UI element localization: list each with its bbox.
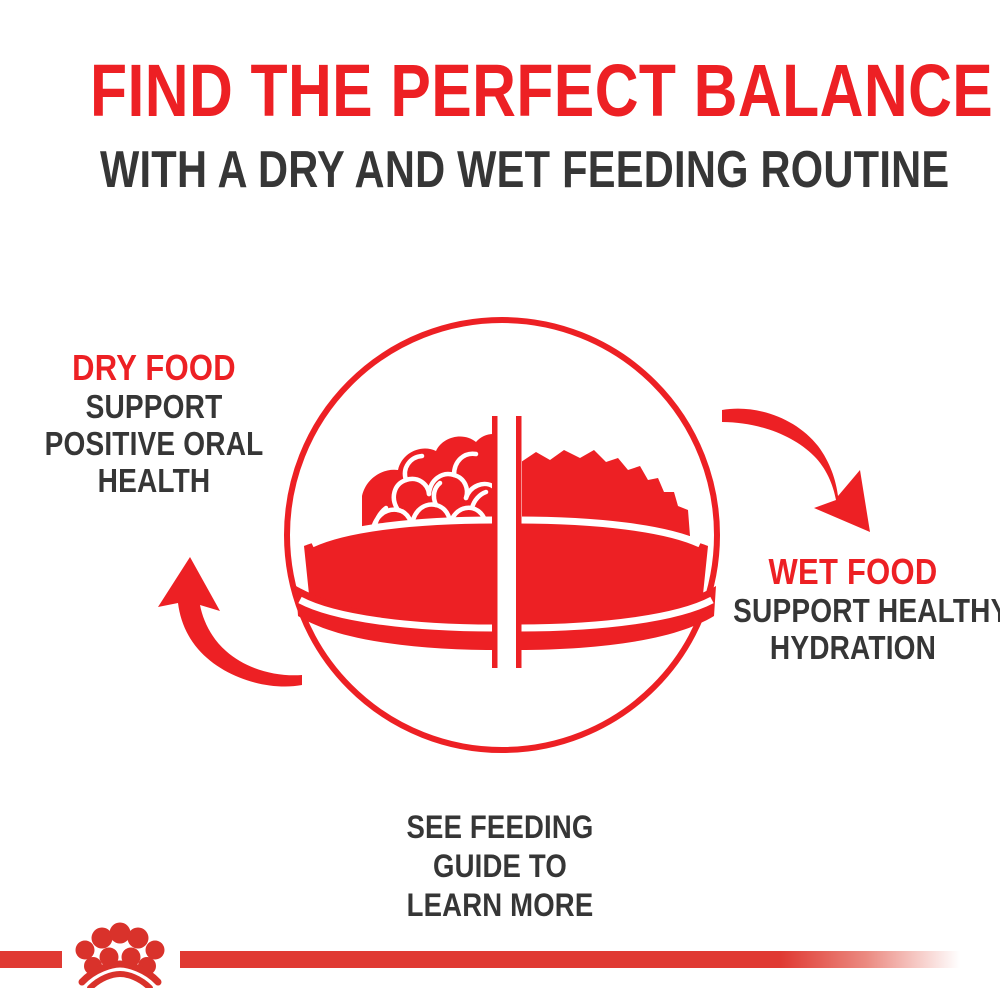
bowl-in-circle-icon bbox=[250, 300, 770, 770]
arrow-left-container bbox=[120, 545, 310, 705]
dry-food-text-block: DRY FOOD SUPPORT POSITIVE ORAL HEALTH bbox=[20, 348, 288, 499]
bowl-right-wet-half bbox=[518, 450, 716, 650]
dry-food-line-2: POSITIVE ORAL bbox=[40, 425, 268, 462]
curved-arrow-up-left-icon bbox=[120, 545, 310, 705]
page-title: FIND THE PERFECT BALANCE bbox=[90, 52, 910, 130]
divider-gap bbox=[498, 416, 517, 668]
dry-food-line-1: SUPPORT bbox=[40, 388, 268, 425]
arrow-right-shape bbox=[722, 409, 870, 532]
arrow-right-container bbox=[720, 392, 900, 547]
brand-logo bbox=[60, 916, 180, 988]
crown-paw-logo-icon bbox=[60, 916, 180, 988]
footer-rule-right bbox=[180, 951, 960, 968]
header-text-block: FIND THE PERFECT BALANCE WITH A DRY AND … bbox=[0, 52, 1000, 198]
caption-line-1: SEE FEEDING bbox=[70, 808, 930, 847]
dry-food-title: DRY FOOD bbox=[39, 348, 269, 388]
bowl-left-dry-half bbox=[296, 434, 516, 650]
page-subtitle: WITH A DRY AND WET FEEDING ROUTINE bbox=[100, 142, 900, 198]
caption-line-2: GUIDE TO bbox=[70, 847, 930, 886]
divider-line-right-top bbox=[516, 416, 522, 668]
central-illustration bbox=[250, 300, 770, 770]
footer-band bbox=[0, 900, 1000, 1000]
split-pet-food-bowl-icon bbox=[296, 416, 716, 668]
arrow-left-shape bbox=[158, 557, 302, 687]
crown-arc-inner bbox=[90, 974, 150, 988]
infographic-poster: FIND THE PERFECT BALANCE WITH A DRY AND … bbox=[0, 0, 1000, 1000]
dry-food-line-3: HEALTH bbox=[40, 462, 268, 499]
footer-rule-left bbox=[0, 951, 62, 968]
curved-arrow-down-right-icon bbox=[720, 392, 900, 547]
divider-line-left-top bbox=[492, 416, 498, 668]
